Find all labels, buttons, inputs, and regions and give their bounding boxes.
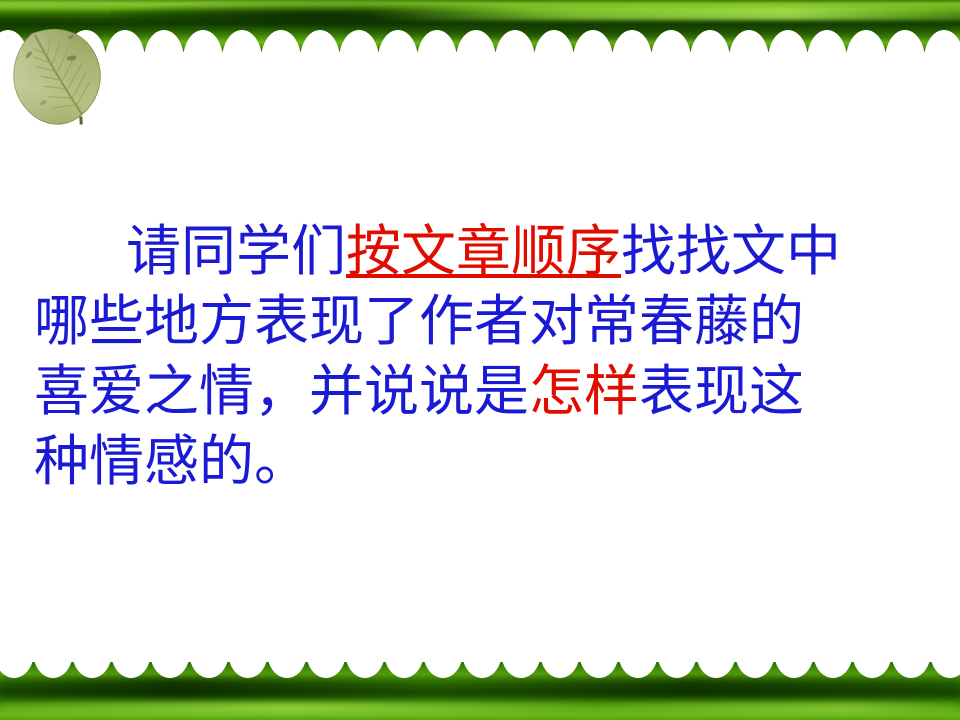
wave-scallop: [930, 662, 960, 678]
wave-scallop: [852, 662, 892, 678]
text-line-3: 喜爱之情，并说说是怎样表现这: [34, 356, 934, 426]
wave-scallop: [72, 662, 112, 678]
wave-scallop: [495, 30, 535, 52]
wave-scallop: [729, 30, 769, 52]
wave-scallop: [612, 30, 652, 52]
text-line-1: 请同学们按文章顺序找找文中: [34, 216, 934, 286]
wave-scallop: [573, 30, 613, 52]
text-line-4: 种情感的。: [34, 426, 934, 496]
wave-scallop: [378, 30, 418, 52]
green-grass-banner-top: [0, 0, 960, 52]
wave-scallop: [735, 662, 775, 678]
wave-scallop: [813, 662, 853, 678]
wave-scallop: [339, 30, 379, 52]
wave-scallop: [534, 30, 574, 52]
wave-scallop: [306, 662, 346, 678]
wave-scallop: [696, 662, 736, 678]
banner-bottom-highlight-streak: [0, 702, 960, 714]
wave-scallop: [384, 662, 424, 678]
wave-scallop: [150, 662, 190, 678]
text-run: 找找文中: [621, 219, 841, 283]
banner-top-highlight-streak: [0, 0, 490, 8]
wave-scallop: [111, 662, 151, 678]
text-run: 哪些地方表现了作者对常春藤的: [34, 289, 804, 353]
slide-body-text: 请同学们按文章顺序找找文中哪些地方表现了作者对常春藤的喜爱之情，并说说是怎样表现…: [34, 216, 934, 496]
wave-scallop: [891, 662, 931, 678]
wave-scallop: [423, 662, 463, 678]
dried-leaf-image: [0, 22, 122, 126]
text-run: 喜爱之情，并说说是: [34, 359, 529, 423]
wave-scallop: [579, 662, 619, 678]
text-line-2: 哪些地方表现了作者对常春藤的: [34, 286, 934, 356]
wave-scallop: [0, 662, 34, 678]
wave-scallop: [183, 30, 223, 52]
wave-scallop: [924, 30, 960, 52]
text-run: 种情感的。: [34, 429, 309, 493]
slide-canvas: 请同学们按文章顺序找找文中哪些地方表现了作者对常春藤的喜爱之情，并说说是怎样表现…: [0, 0, 960, 720]
wave-scallop: [189, 662, 229, 678]
emphasis-underlined-run: 按文章顺序: [346, 219, 621, 283]
wave-scallop: [261, 30, 301, 52]
wave-scallop: [885, 30, 925, 52]
text-run: 请同学们: [126, 219, 346, 283]
wave-scallop: [501, 662, 541, 678]
emphasis-run: 怎样: [529, 359, 639, 423]
wave-scallop: [345, 662, 385, 678]
wave-scallop: [462, 662, 502, 678]
wave-scallop: [417, 30, 457, 52]
wave-scallop: [33, 662, 73, 678]
wave-scallop: [540, 662, 580, 678]
wave-scallop: [228, 662, 268, 678]
wave-scallop: [267, 662, 307, 678]
wave-scallop: [618, 662, 658, 678]
wave-scallop: [300, 30, 340, 52]
wave-scallop: [690, 30, 730, 52]
wave-scallop: [657, 662, 697, 678]
green-grass-banner-bottom: [0, 662, 960, 720]
wave-scallop: [144, 30, 184, 52]
leaf-icon: [0, 22, 122, 126]
wave-scallop: [846, 30, 886, 52]
wave-scallop: [456, 30, 496, 52]
banner-bottom-wave-edge: [0, 662, 960, 684]
wave-scallop: [651, 30, 691, 52]
wave-scallop: [768, 30, 808, 52]
banner-top-wave-edge: [0, 28, 960, 52]
wave-scallop: [222, 30, 262, 52]
wave-scallop: [774, 662, 814, 678]
text-run: 表现这: [639, 359, 804, 423]
wave-scallop: [807, 30, 847, 52]
